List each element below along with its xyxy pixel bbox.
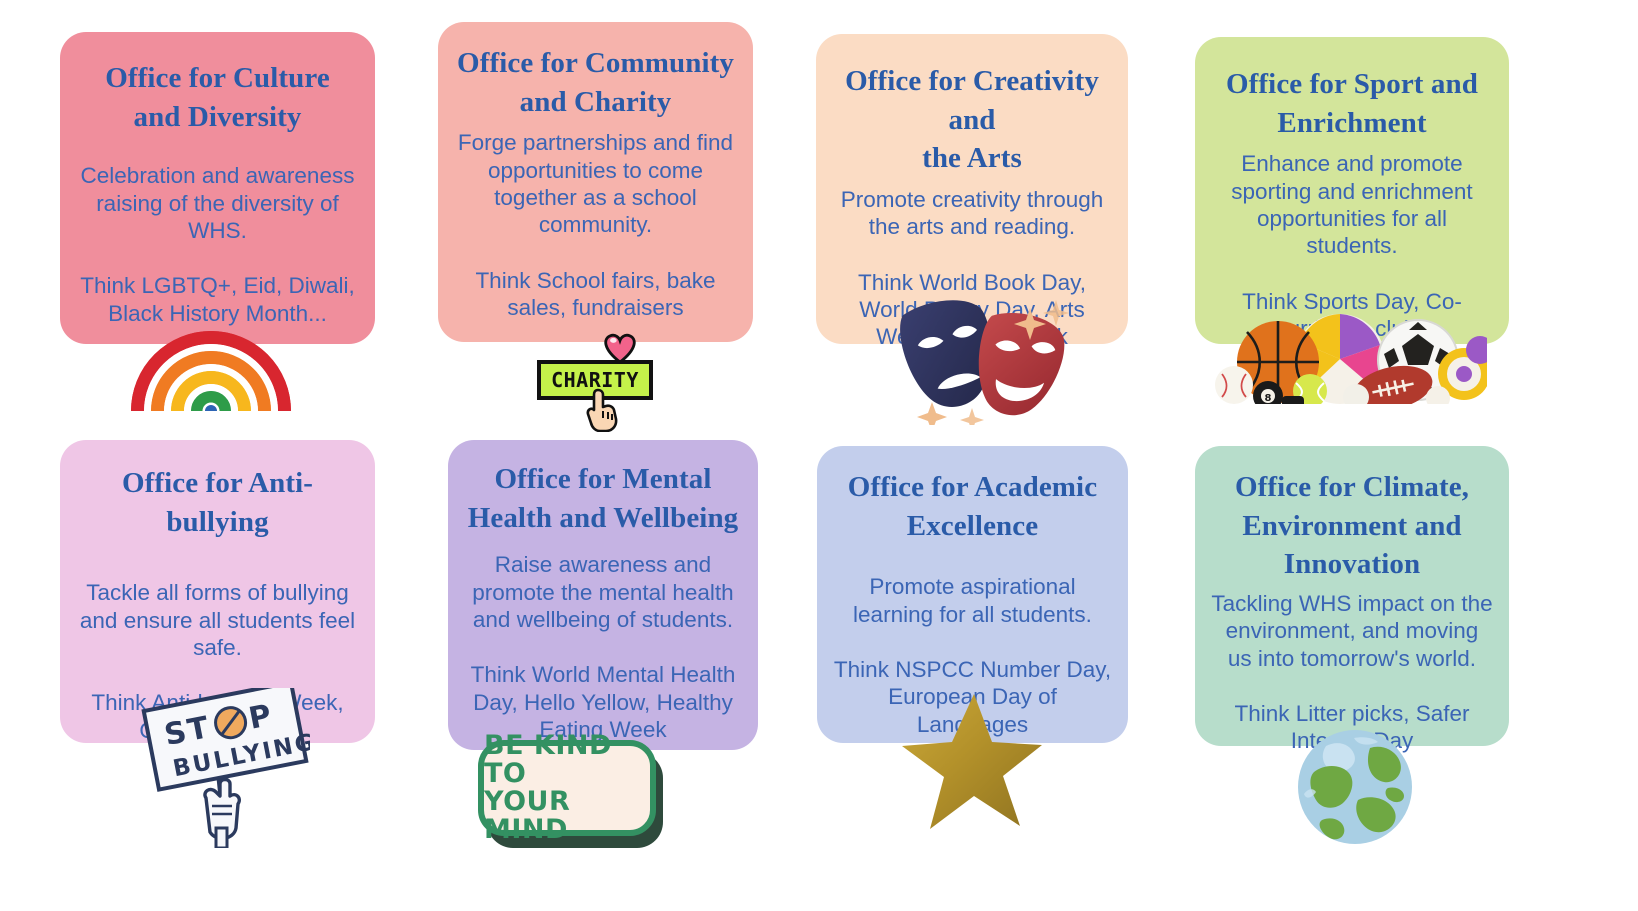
card-think: Think Anti-bullying Week, Odd Socks Day <box>76 689 359 744</box>
card-think: Think School fairs, bake sales, fundrais… <box>454 267 737 322</box>
card-sport-enrichment[interactable]: Office for Sport and Enrichment Enhance … <box>1195 37 1509 344</box>
card-title: Office for Anti-bullying <box>76 464 359 541</box>
card-title: Office for Mental Health and Wellbeing <box>464 460 742 537</box>
sticker-face: BE KIND TO YOUR MIND <box>478 740 656 836</box>
card-title: Office for Sport and Enrichment <box>1211 65 1493 142</box>
card-community-charity[interactable]: Office for Community and Charity Forge p… <box>438 22 753 342</box>
card-think: Think Litter picks, Safer Internet Day <box>1211 700 1493 755</box>
card-think: Think World Book Day, World Poetry Day, … <box>832 269 1112 351</box>
card-body: Promote aspirational learning for all st… <box>833 573 1112 628</box>
poster-board: Office for Culture and Diversity Celebra… <box>0 0 1638 911</box>
be-kind-sticker-icon: BE KIND TO YOUR MIND <box>478 740 666 848</box>
card-think: Think World Mental Health Day, Hello Yel… <box>464 661 742 743</box>
card-think: Think LGBTQ+, Eid, Diwali, Black History… <box>76 272 359 327</box>
card-body: Enhance and promote sporting and enrichm… <box>1211 150 1493 260</box>
card-anti-bullying[interactable]: Office for Anti-bullying Tackle all form… <box>60 440 375 743</box>
card-mental-health-wellbeing[interactable]: Office for Mental Health and Wellbeing R… <box>448 440 758 750</box>
pointing-hand-cursor-icon <box>585 388 623 432</box>
card-body: Promote creativity through the arts and … <box>832 186 1112 241</box>
card-academic-excellence[interactable]: Office for Academic Excellence Promote a… <box>817 446 1128 743</box>
card-body: Celebration and awareness raising of the… <box>76 162 359 244</box>
card-climate-environment-innovation[interactable]: Office for Climate, Environment and Inno… <box>1195 446 1509 746</box>
sticker-shadow <box>487 752 663 848</box>
card-title: Office for Academic Excellence <box>833 468 1112 545</box>
charity-button-icon: CHARITY <box>533 330 657 426</box>
card-think: Think NSPCC Number Day, European Day of … <box>833 656 1112 738</box>
svg-text:8: 8 <box>1265 393 1272 404</box>
card-body: Forge partnerships and find opportunitie… <box>454 129 737 239</box>
card-title: Office for Climate, Environment and Inno… <box>1211 468 1493 584</box>
card-body: Tackle all forms of bullying and ensure … <box>76 579 359 661</box>
card-body: Raise awareness and promote the mental h… <box>464 551 742 633</box>
charity-button[interactable]: CHARITY <box>537 360 653 400</box>
card-title: Office for Culture and Diversity <box>76 59 359 136</box>
card-body: Tackling WHS impact on the environment, … <box>1211 590 1493 672</box>
card-think: Think Sports Day, Co-curricular clubs <box>1211 288 1493 343</box>
card-culture-diversity[interactable]: Office for Culture and Diversity Celebra… <box>60 32 375 344</box>
card-creativity-arts[interactable]: Office for Creativity and the Arts Promo… <box>816 34 1128 344</box>
card-title: Office for Community and Charity <box>454 44 737 121</box>
card-title: Office for Creativity and the Arts <box>832 62 1112 178</box>
